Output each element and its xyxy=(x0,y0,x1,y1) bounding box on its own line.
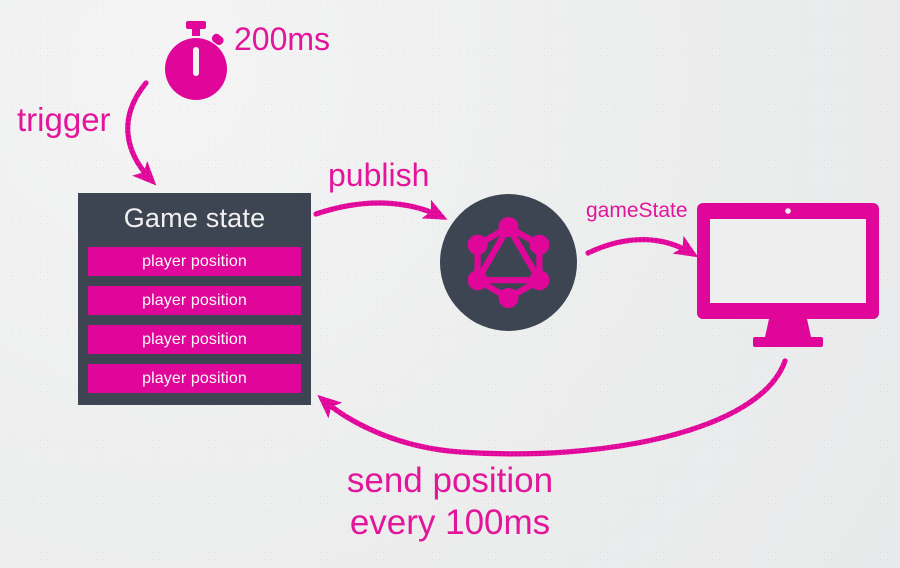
player-position-label: player position xyxy=(142,292,247,310)
interval-label: 200ms xyxy=(234,23,330,57)
player-position-row[interactable]: player position xyxy=(88,286,301,315)
trigger-arrow xyxy=(128,83,152,181)
stopwatch-icon xyxy=(160,21,236,101)
player-position-row[interactable]: player position xyxy=(88,247,301,276)
gamestate-label: gameState xyxy=(586,200,688,222)
trigger-label: trigger xyxy=(17,103,111,138)
monitor-icon xyxy=(697,203,879,349)
send-position-label: send position every 100ms xyxy=(0,463,900,542)
send-position-line-1: send position xyxy=(347,461,553,500)
diagram-canvas: Game state player position player positi… xyxy=(0,0,900,568)
player-position-label: player position xyxy=(142,253,247,271)
player-position-label: player position xyxy=(142,370,247,388)
publish-arrow xyxy=(316,203,442,217)
player-position-label: player position xyxy=(142,331,247,349)
player-position-row[interactable]: player position xyxy=(88,325,301,354)
game-state-panel: Game state player position player positi… xyxy=(78,193,311,405)
send-position-arrow xyxy=(322,361,785,454)
player-position-row[interactable]: player position xyxy=(88,364,301,393)
publish-label: publish xyxy=(328,159,429,193)
send-position-line-2: every 100ms xyxy=(0,505,900,542)
gamestate-arrow xyxy=(588,240,693,254)
graphql-logo-icon xyxy=(440,194,577,331)
game-state-title: Game state xyxy=(88,199,301,237)
